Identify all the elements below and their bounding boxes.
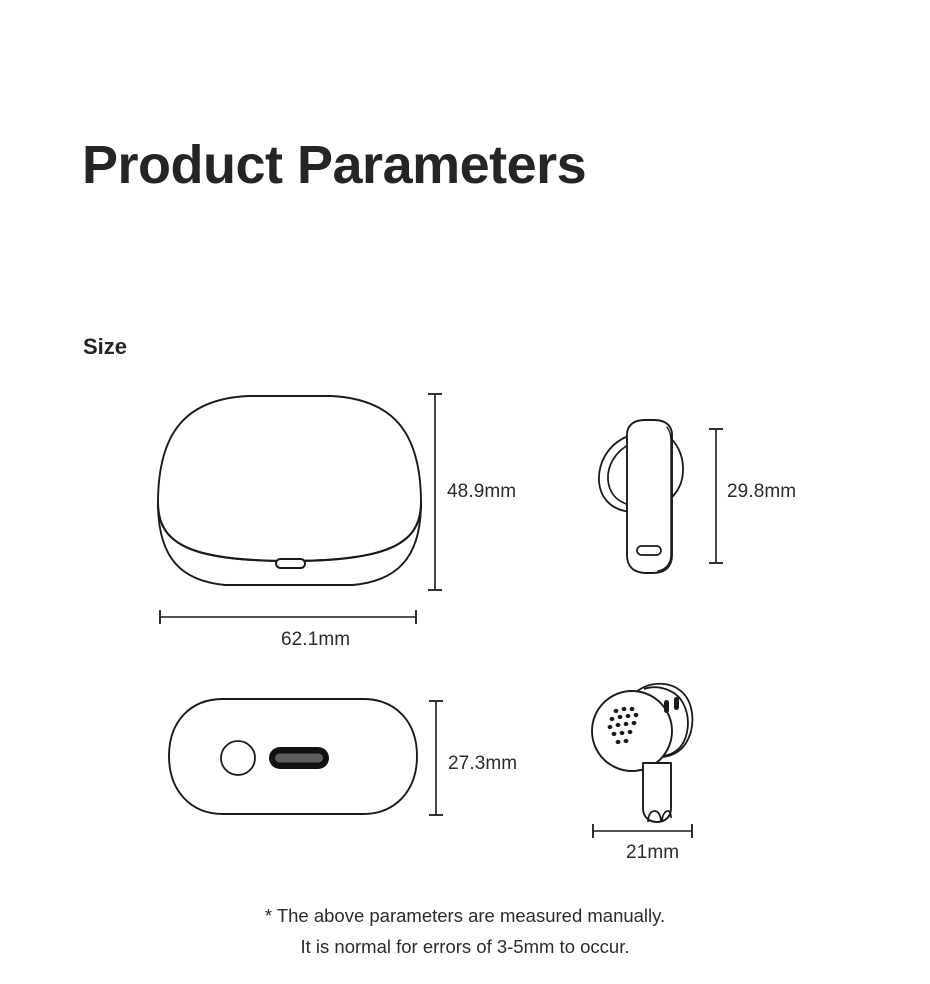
footnote: * The above parameters are measured manu…: [0, 900, 930, 962]
usb-c-port-inner: [275, 754, 323, 763]
figure-earbud-side-view: [592, 415, 702, 580]
dimension-label-case-depth: 27.3mm: [448, 753, 517, 775]
dimension-label-earbud-width: 21mm: [626, 842, 679, 864]
charging-case-front-view-drawing: [145, 385, 435, 600]
reset-button: [221, 741, 255, 775]
dimension-line-horizontal: [158, 607, 418, 627]
charging-case-bottom-view-drawing: [163, 694, 423, 819]
dimension-line-case-height: [425, 392, 445, 592]
figure-earbud-perspective-view: [588, 675, 718, 830]
earbud-perspective-view-drawing: [588, 675, 718, 830]
stem-slot: [637, 546, 661, 555]
dimension-label-earbud-height: 29.8mm: [727, 481, 796, 503]
dimension-line-vertical: [706, 427, 726, 565]
dimension-line-vertical: [426, 699, 446, 817]
dimension-line-case-depth: [426, 699, 446, 817]
dimension-line-earbud-width: [590, 821, 695, 841]
footnote-line-1: * The above parameters are measured manu…: [0, 900, 930, 931]
dimension-label-case-width: 62.1mm: [281, 629, 350, 651]
section-label-size: Size: [83, 334, 127, 360]
dimension-label-case-height: 48.9mm: [447, 481, 516, 503]
dimension-line-case-width: [158, 607, 418, 627]
dimension-line-earbud-height: [706, 427, 726, 565]
page-title: Product Parameters: [82, 136, 586, 195]
footnote-line-2: It is normal for errors of 3-5mm to occu…: [0, 931, 930, 962]
product-parameters-page: Product Parameters Size 48.9mm 6: [0, 0, 930, 984]
dimension-line-vertical: [425, 392, 445, 592]
earbud-stem: [643, 763, 671, 822]
figure-charging-case-front-view: [145, 385, 435, 600]
case-lid: [158, 396, 421, 561]
led-indicator-slot: [276, 559, 305, 568]
dimension-line-horizontal: [590, 821, 695, 841]
figure-charging-case-bottom-view: [163, 694, 423, 819]
earbud-side-view-drawing: [592, 415, 702, 580]
